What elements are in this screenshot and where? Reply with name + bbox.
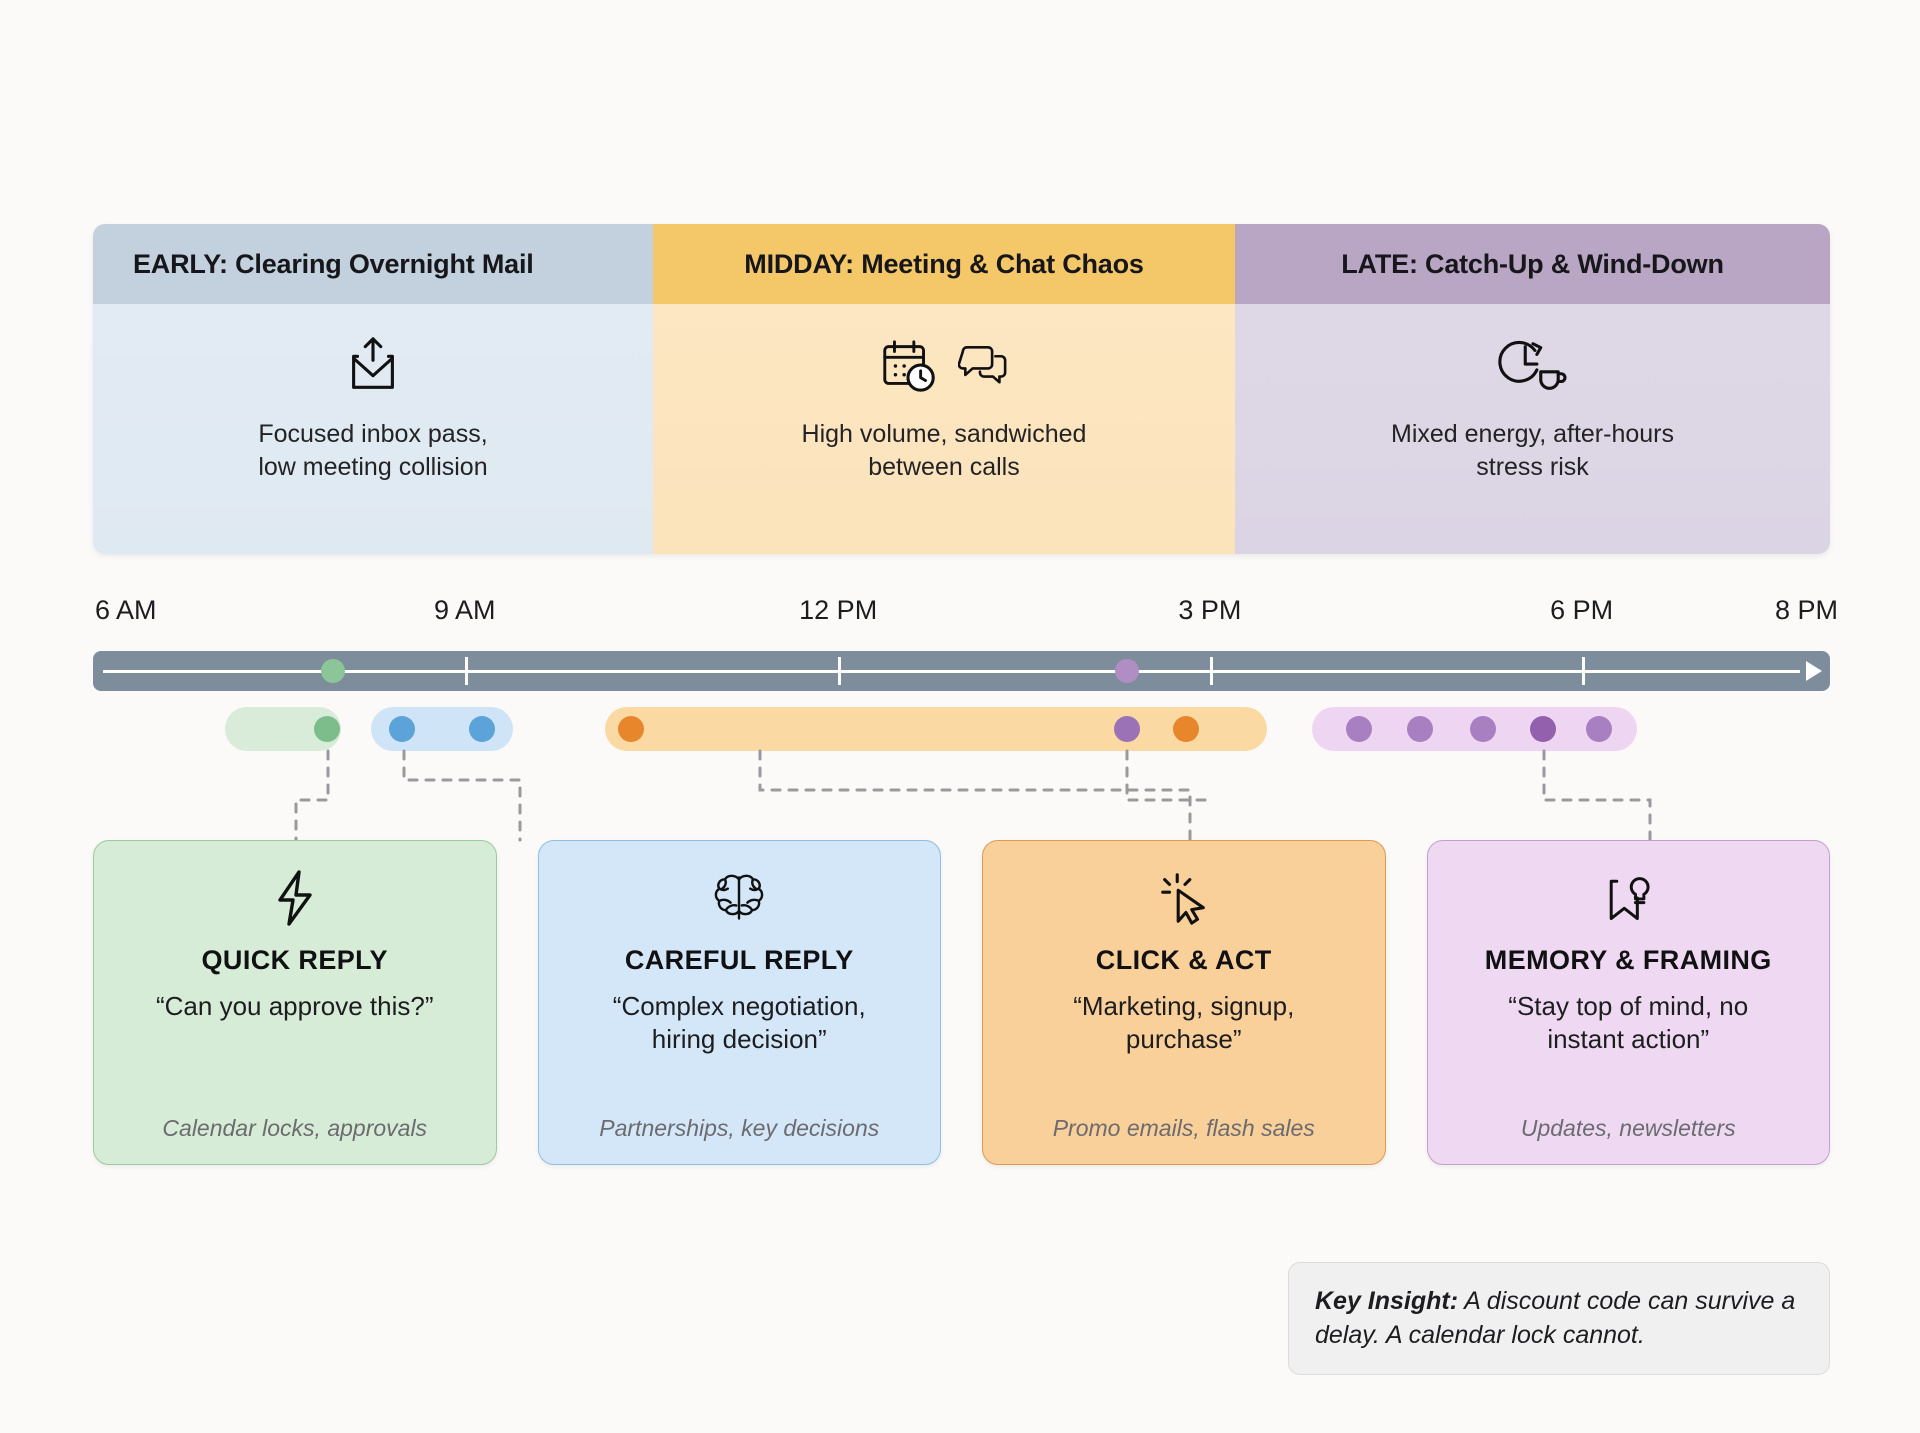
key-insight-label: Key Insight: [1315, 1287, 1458, 1315]
card-memory-framing-title: MEMORY & FRAMING [1485, 945, 1772, 976]
timeline-tick [838, 657, 841, 685]
card-memory-framing-quote: “Stay top of mind, no instant action” [1508, 990, 1748, 1057]
phase-midday: MIDDAY: Meeting & Chat Chaos [653, 224, 1235, 554]
phase-late-description: Mixed energy, after-hours stress risk [1391, 418, 1674, 484]
click-cursor-icon [1155, 867, 1213, 929]
careful-reply-band-dot[interactable] [389, 716, 415, 742]
bookmark-bulb-icon [1599, 867, 1657, 929]
timeline-tick [1582, 657, 1585, 685]
card-click-act-subtitle: Promo emails, flash sales [1053, 1099, 1315, 1142]
clock-coffee-icon [1498, 330, 1568, 402]
memory-framing-band-dot[interactable] [1407, 716, 1433, 742]
timeline-label-12-pm: 12 PM [799, 595, 877, 626]
click-act-band[interactable] [605, 707, 1267, 751]
phase-early-description: Focused inbox pass, low meeting collisio… [258, 418, 487, 484]
card-careful-reply[interactable]: CAREFUL REPLY “Complex negotiation, hiri… [538, 840, 942, 1165]
card-quick-reply-title: QUICK REPLY [202, 945, 388, 976]
memory-framing-band-dot[interactable] [1530, 716, 1556, 742]
card-careful-reply-quote: “Complex negotiation, hiring decision” [613, 990, 866, 1057]
phase-midday-body: High volume, sandwiched between calls [653, 304, 1235, 554]
card-quick-reply-quote: “Can you approve this?” [156, 990, 433, 1023]
timeline-tick [1210, 657, 1213, 685]
timeline-marker-quick-reply-peak[interactable] [321, 659, 345, 683]
careful-reply-band-dot[interactable] [469, 716, 495, 742]
card-click-act[interactable]: CLICK & ACT “Marketing, signup, purchase… [982, 840, 1386, 1165]
phase-band: EARLY: Clearing Overnight Mail Focused i… [93, 224, 1830, 554]
timeline-axis-labels: 6 AM9 AM12 PM3 PM6 PM8 PM [0, 595, 1920, 631]
click-act-band-dot[interactable] [1173, 716, 1199, 742]
phase-midday-description: High volume, sandwiched between calls [802, 418, 1087, 484]
phase-late-title: LATE: Catch-Up & Wind-Down [1235, 224, 1830, 304]
quick-reply-band-dot[interactable] [314, 716, 340, 742]
timeline-label-8-pm: 8 PM [1775, 595, 1838, 626]
activity-bands [0, 707, 1920, 751]
timeline-label-9-am: 9 AM [434, 595, 496, 626]
outbox-envelope-icon [342, 330, 404, 402]
phase-early: EARLY: Clearing Overnight Mail Focused i… [93, 224, 653, 554]
card-careful-reply-subtitle: Partnerships, key decisions [599, 1099, 879, 1142]
timeline-arrow-icon [1806, 661, 1822, 681]
card-memory-framing-subtitle: Updates, newsletters [1521, 1099, 1736, 1142]
brain-icon [709, 867, 769, 929]
card-click-act-title: CLICK & ACT [1096, 945, 1272, 976]
memory-framing-band-dot[interactable] [1346, 716, 1372, 742]
timeline-bar [93, 651, 1830, 691]
card-row: QUICK REPLY “Can you approve this?” Cale… [93, 840, 1830, 1165]
phase-late: LATE: Catch-Up & Wind-Down Mixed energy,… [1235, 224, 1830, 554]
memory-framing-band-dot[interactable] [1586, 716, 1612, 742]
click-act-band-dot[interactable] [1114, 716, 1140, 742]
phase-late-body: Mixed energy, after-hours stress risk [1235, 304, 1830, 554]
timeline-tick [465, 657, 468, 685]
phase-early-body: Focused inbox pass, low meeting collisio… [93, 304, 653, 554]
key-insight-box: Key Insight: A discount code can survive… [1288, 1262, 1830, 1375]
card-click-act-quote: “Marketing, signup, purchase” [1073, 990, 1294, 1057]
phase-early-title: EARLY: Clearing Overnight Mail [93, 224, 653, 304]
timeline-center-line [103, 670, 1800, 673]
card-careful-reply-title: CAREFUL REPLY [625, 945, 854, 976]
click-act-band-dot[interactable] [618, 716, 644, 742]
phase-midday-title: MIDDAY: Meeting & Chat Chaos [653, 224, 1235, 304]
card-quick-reply-subtitle: Calendar locks, approvals [162, 1099, 427, 1142]
card-memory-framing[interactable]: MEMORY & FRAMING “Stay top of mind, no i… [1427, 840, 1831, 1165]
calendar-clock-chat-icon [878, 330, 1010, 402]
memory-framing-band-dot[interactable] [1470, 716, 1496, 742]
timeline-label-3-pm: 3 PM [1178, 595, 1241, 626]
card-quick-reply[interactable]: QUICK REPLY “Can you approve this?” Cale… [93, 840, 497, 1165]
timeline-marker-click-act-peak[interactable] [1115, 659, 1139, 683]
timeline-label-6-pm: 6 PM [1550, 595, 1613, 626]
timeline-label-6-am: 6 AM [95, 595, 157, 626]
lightning-bolt-icon [270, 867, 320, 929]
